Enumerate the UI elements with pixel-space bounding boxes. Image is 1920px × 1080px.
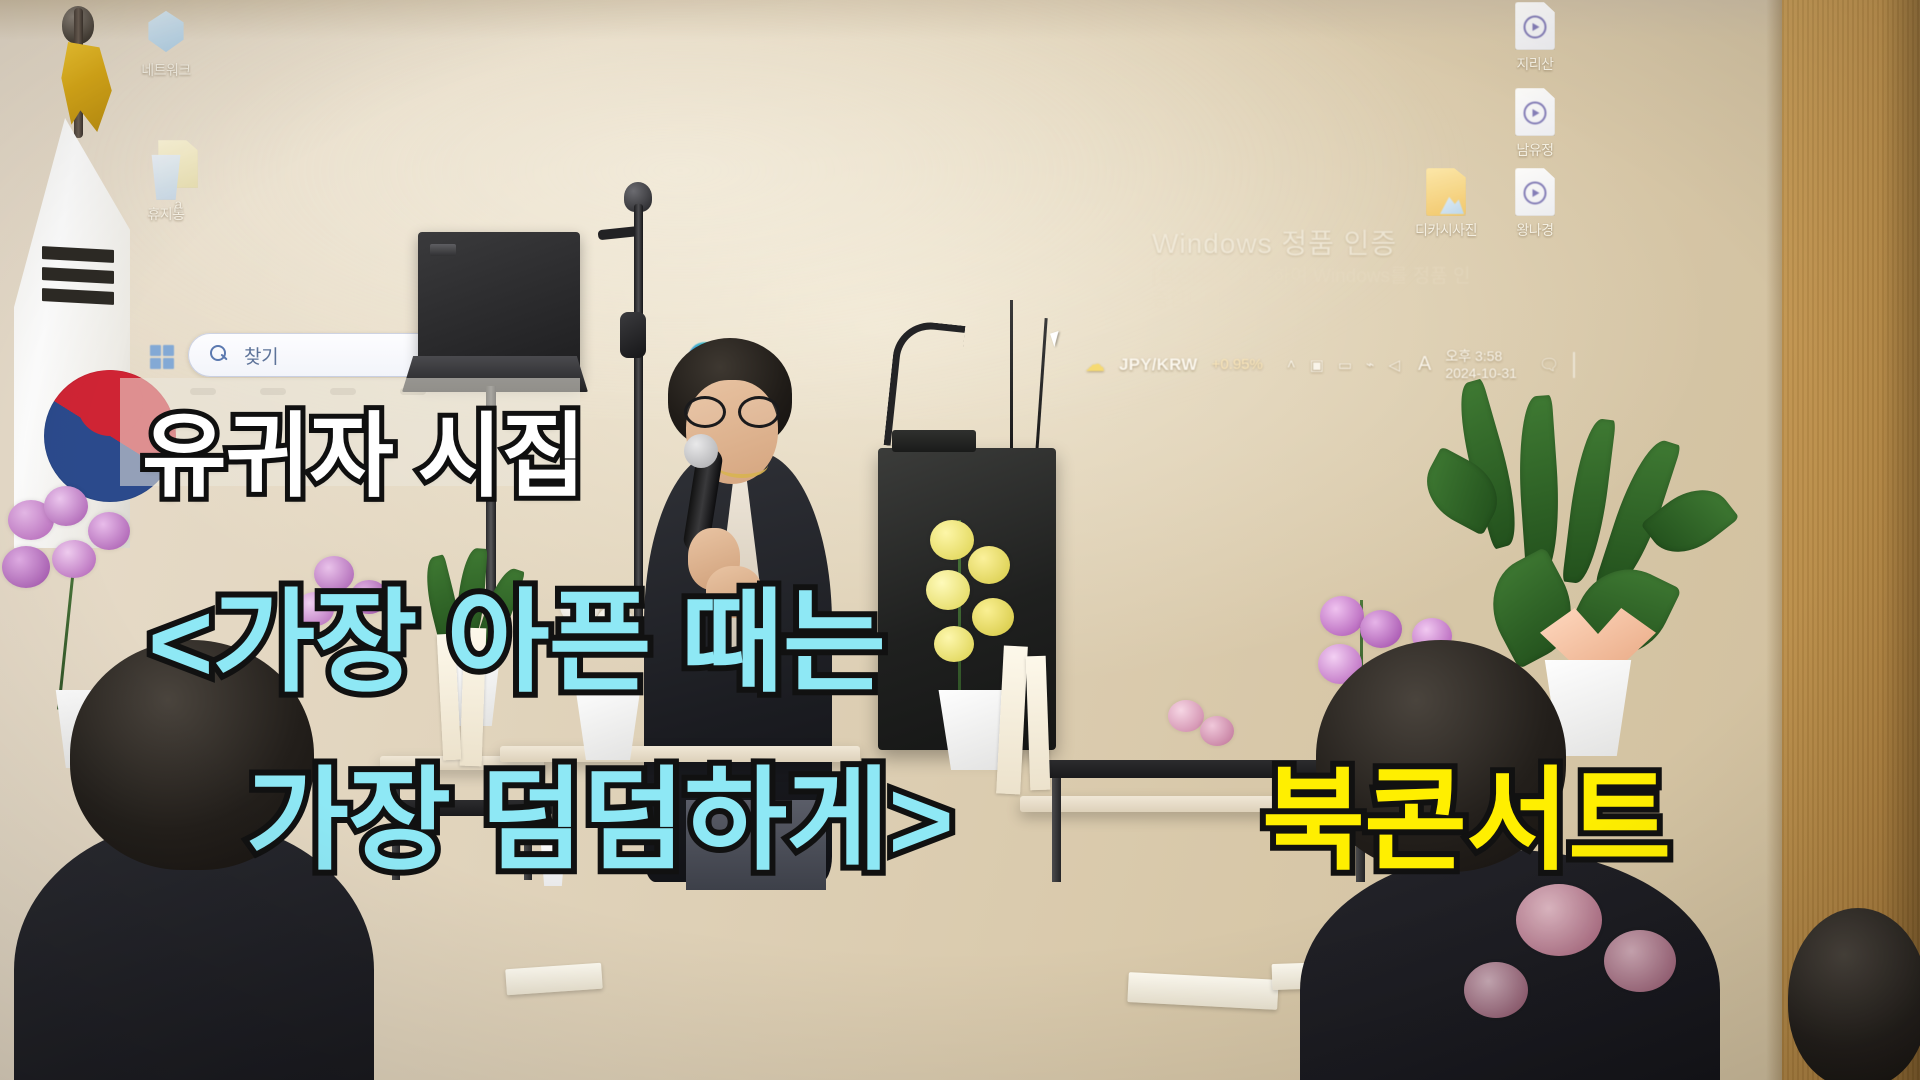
weather-sun-icon[interactable]: ☁ bbox=[1085, 352, 1105, 377]
speaker-necklace bbox=[716, 452, 768, 478]
search-icon bbox=[210, 345, 230, 365]
wood-panel-edge bbox=[1766, 0, 1782, 1080]
folder-icon bbox=[1426, 168, 1466, 216]
orchid-yellow-5 bbox=[934, 626, 974, 662]
tray-time: 오후 3:58 bbox=[1445, 348, 1502, 364]
orchid-left-4 bbox=[52, 540, 96, 578]
notification-icon[interactable]: 🗨 bbox=[1539, 355, 1559, 375]
speaker-glasses bbox=[684, 396, 780, 422]
watermark-title: Windows 정품 인증 bbox=[1152, 222, 1472, 262]
volume-icon[interactable]: ◁ bbox=[1388, 356, 1400, 374]
tray-divider bbox=[1573, 352, 1575, 378]
orchid-left-3 bbox=[2, 546, 50, 588]
currency-ticker-label[interactable]: JPY/KRW bbox=[1119, 355, 1198, 375]
video-file-icon bbox=[1515, 88, 1555, 136]
desktop-icon-label: 지리산 bbox=[1487, 54, 1583, 74]
audience-head-far-right bbox=[1788, 908, 1920, 1080]
screenshot-stage: 네트워크 a 휴지통 지리산 남유정 디카시사진 왕나경 Windows 정품 … bbox=[0, 0, 1920, 1080]
desktop-icon-jirisan[interactable]: 지리산 bbox=[1487, 2, 1583, 74]
desktop-icon-wangnagyeong[interactable]: 왕나경 bbox=[1487, 168, 1583, 240]
desktop-icon-label: 왕나경 bbox=[1487, 220, 1583, 240]
orchid-yellow-1 bbox=[930, 520, 974, 560]
windows-activation-watermark: Windows 정품 인증 [설정]으로 이동하여 Windows를 정품 인증… bbox=[1152, 222, 1472, 313]
orchid-left-5 bbox=[88, 512, 130, 550]
orchid-yellow-4 bbox=[972, 598, 1014, 636]
system-tray[interactable]: ☁ JPY/KRW +0.95% ˄ ▣ ▭ ⌁ ◁ A 오후 3:58 202… bbox=[1085, 348, 1575, 381]
table-leg-right-a bbox=[1052, 778, 1061, 882]
orchid-pink-2 bbox=[1200, 716, 1234, 746]
audience-dress-floral-2 bbox=[1604, 930, 1676, 992]
desktop-icon-label: 휴지통 bbox=[118, 204, 214, 224]
orchid-left-2 bbox=[44, 486, 88, 526]
currency-ticker-change: +0.95% bbox=[1212, 356, 1263, 373]
poem-title-line-1: <가장 아픈 때는 bbox=[148, 552, 885, 714]
watermark-subtitle: [설정]으로 이동하여 Windows를 정품 인증합니다. bbox=[1152, 265, 1472, 313]
chevron-up-icon[interactable]: ˄ bbox=[1287, 356, 1296, 373]
desktop-icon-label: 네트워크 bbox=[118, 60, 214, 80]
recycle-bin-icon bbox=[146, 152, 186, 200]
video-file-icon bbox=[1515, 2, 1555, 50]
desktop-icon-label: 남유정 bbox=[1487, 140, 1583, 160]
network-icon bbox=[146, 8, 186, 56]
desktop-icon-recycle-bin[interactable]: 휴지통 bbox=[118, 152, 214, 224]
desktop-icon-network[interactable]: 네트워크 bbox=[118, 8, 214, 80]
camera-icon[interactable]: ▣ bbox=[1310, 356, 1324, 374]
orchid-magenta-1 bbox=[1320, 596, 1364, 636]
windows-logo-icon[interactable] bbox=[150, 345, 174, 369]
desktop-icon-namyujeong[interactable]: 남유정 bbox=[1487, 88, 1583, 160]
flag-trigram bbox=[42, 248, 114, 310]
battery-icon[interactable]: ▭ bbox=[1338, 356, 1352, 374]
search-placeholder: 찾기 bbox=[244, 342, 278, 369]
orchid-yellow-3 bbox=[926, 570, 970, 610]
video-file-icon bbox=[1515, 168, 1555, 216]
book-title-line: 유귀자 시집 bbox=[142, 382, 585, 515]
tray-clock[interactable]: 오후 3:58 2024-10-31 bbox=[1445, 348, 1517, 381]
orchid-pink-1 bbox=[1168, 700, 1204, 732]
microphone-capsule bbox=[684, 434, 718, 468]
audience-dress-floral-3 bbox=[1464, 962, 1528, 1018]
orchid-yellow-2 bbox=[968, 546, 1010, 584]
audience-dress-floral-1 bbox=[1516, 884, 1602, 956]
ime-indicator[interactable]: A bbox=[1418, 353, 1431, 376]
orchid-magenta-2 bbox=[1360, 610, 1402, 648]
tray-date: 2024-10-31 bbox=[1445, 365, 1517, 381]
antenna-left bbox=[1010, 300, 1013, 450]
poem-title-line-2: 가장 덤덤하게> bbox=[246, 730, 953, 892]
microphone-clamp bbox=[620, 312, 646, 358]
wifi-icon[interactable]: ⌁ bbox=[1366, 356, 1374, 373]
event-type-label: 북콘서트 bbox=[1262, 730, 1670, 892]
